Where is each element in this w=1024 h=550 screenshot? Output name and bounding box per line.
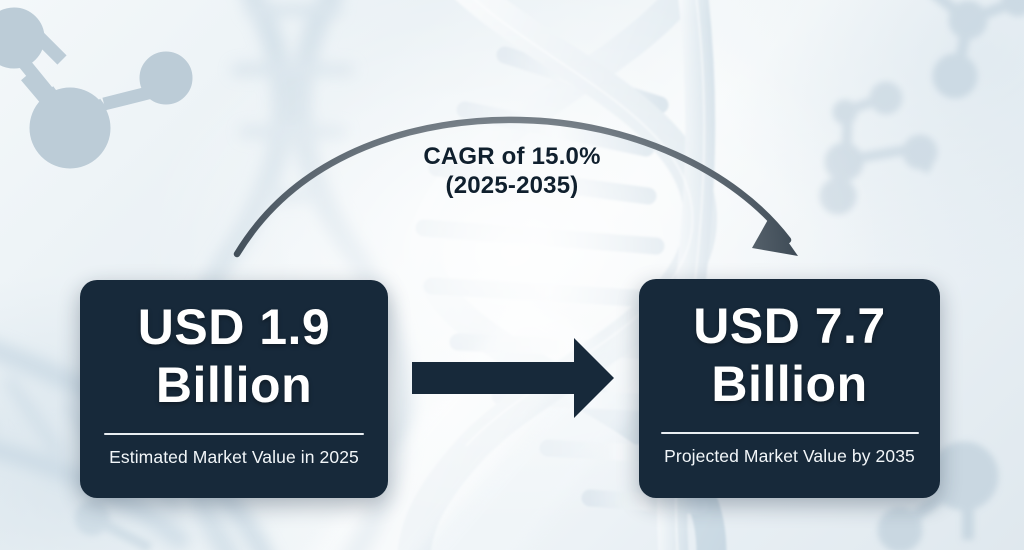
- right-card-amount: USD 7.7: [693, 301, 885, 351]
- cagr-period-text: (2025-2035): [0, 171, 1024, 200]
- right-card-divider: [661, 432, 919, 434]
- projected-market-value-card[interactable]: USD 7.7 Billion Projected Market Value b…: [639, 279, 940, 498]
- transition-arrow-shape: [412, 338, 614, 418]
- left-card-divider: [104, 433, 364, 435]
- cagr-rate-text: CAGR of 15.0%: [0, 142, 1024, 171]
- right-card-unit: Billion: [711, 359, 867, 410]
- cagr-annotation: CAGR of 15.0% (2025-2035): [0, 142, 1024, 201]
- left-card-unit: Billion: [156, 360, 312, 411]
- market-value-infographic: CAGR of 15.0% (2025-2035) USD 1.9 Billio…: [0, 0, 1024, 550]
- right-card-caption: Projected Market Value by 2035: [664, 446, 915, 467]
- molecule-bottom-left-small: [75, 501, 150, 548]
- left-card-caption: Estimated Market Value in 2025: [109, 447, 359, 468]
- transition-arrow: [408, 332, 618, 424]
- estimated-market-value-card[interactable]: USD 1.9 Billion Estimated Market Value i…: [80, 280, 388, 498]
- left-card-amount: USD 1.9: [138, 302, 330, 352]
- molecule-top-right-blurred: [930, 0, 1024, 98]
